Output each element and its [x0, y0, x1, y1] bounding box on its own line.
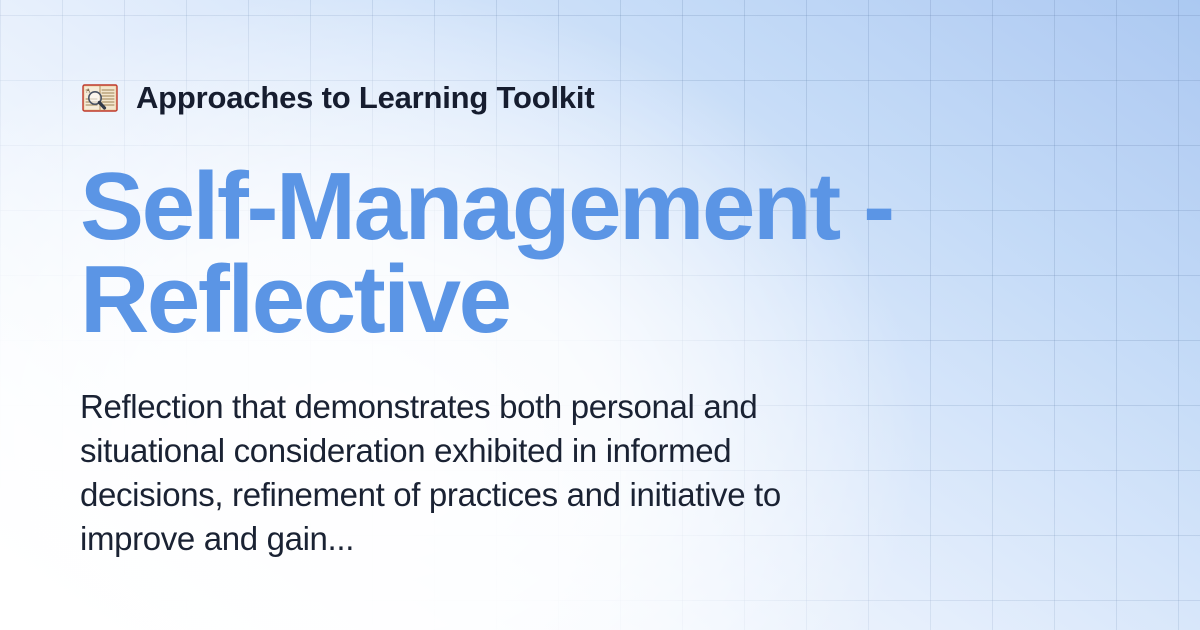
open-graph-card: A Approaches to Learning Toolkit Self-Ma…: [0, 0, 1200, 630]
open-book-icon: A: [80, 78, 120, 118]
brand-row: A Approaches to Learning Toolkit: [80, 78, 594, 118]
page-title: Self-Management - Reflective: [80, 160, 1000, 346]
card-content: A Approaches to Learning Toolkit Self-Ma…: [80, 0, 1080, 630]
brand-title: Approaches to Learning Toolkit: [136, 80, 594, 116]
page-description: Reflection that demonstrates both person…: [80, 385, 840, 561]
